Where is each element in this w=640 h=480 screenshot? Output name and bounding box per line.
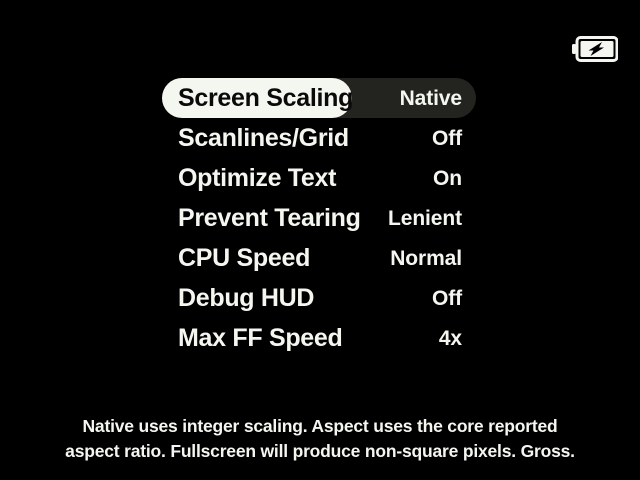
menu-row-label: Scanlines/Grid [178, 126, 349, 151]
menu-row-scanlines-grid[interactable]: Scanlines/Grid Off [162, 118, 476, 158]
settings-screen: Screen Scaling Native Scanlines/Grid Off… [0, 0, 640, 480]
menu-row-screen-scaling[interactable]: Screen Scaling Native [162, 78, 476, 118]
menu-row-value[interactable]: On [433, 168, 462, 189]
help-text-line-2: aspect ratio. Fullscreen will produce no… [14, 439, 626, 464]
menu-row-value[interactable]: Off [432, 128, 462, 149]
menu-row-label: CPU Speed [178, 246, 310, 271]
menu-row-value[interactable]: Native [400, 88, 462, 109]
settings-menu[interactable]: Screen Scaling Native Scanlines/Grid Off… [162, 78, 476, 358]
menu-row-cpu-speed[interactable]: CPU Speed Normal [162, 238, 476, 278]
menu-row-value[interactable]: Lenient [388, 208, 462, 229]
status-bar [0, 0, 640, 78]
menu-row-optimize-text[interactable]: Optimize Text On [162, 158, 476, 198]
menu-row-label: Screen Scaling [178, 86, 353, 111]
menu-row-value[interactable]: Off [432, 288, 462, 309]
help-text: Native uses integer scaling. Aspect uses… [0, 414, 640, 464]
help-text-line-1: Native uses integer scaling. Aspect uses… [14, 414, 626, 439]
menu-row-value[interactable]: 4x [439, 328, 462, 349]
menu-row-label: Optimize Text [178, 166, 336, 191]
menu-row-label: Prevent Tearing [178, 206, 361, 231]
menu-row-debug-hud[interactable]: Debug HUD Off [162, 278, 476, 318]
menu-row-label: Max FF Speed [178, 326, 343, 351]
menu-row-prevent-tearing[interactable]: Prevent Tearing Lenient [162, 198, 476, 238]
menu-row-label: Debug HUD [178, 286, 314, 311]
battery-charging-icon [572, 36, 618, 62]
menu-row-max-ff-speed[interactable]: Max FF Speed 4x [162, 318, 476, 358]
menu-row-value[interactable]: Normal [390, 248, 462, 269]
